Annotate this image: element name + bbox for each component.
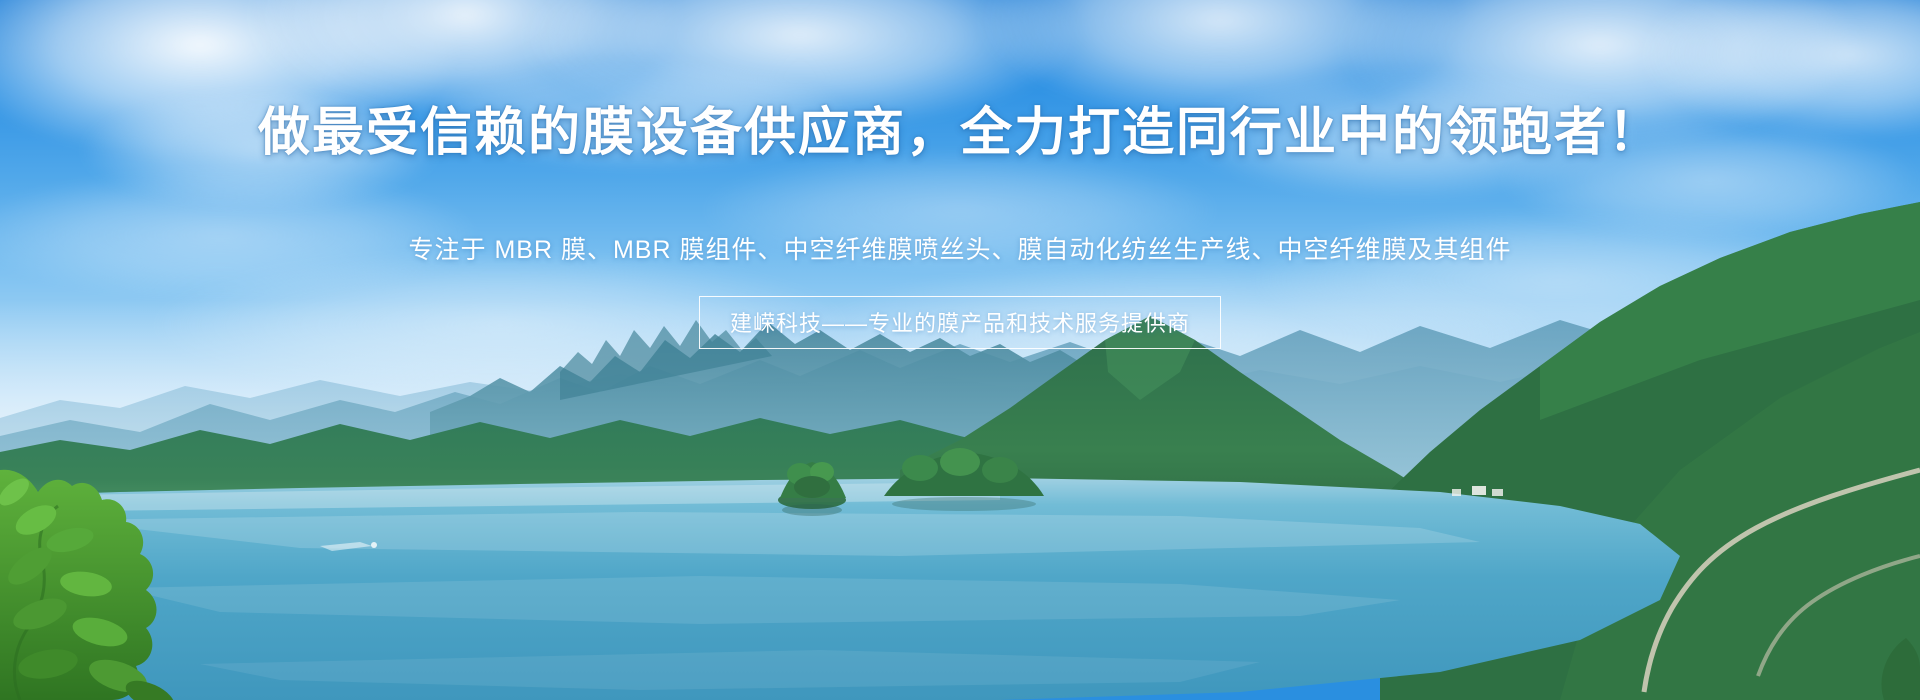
banner-headline: 做最受信赖的膜设备供应商，全力打造同行业中的领跑者！ (0, 105, 1920, 161)
banner-tagline: 建嵘科技——专业的膜产品和技术服务提供商 (699, 296, 1221, 349)
hero-banner: 做最受信赖的膜设备供应商，全力打造同行业中的领跑者！ 专注于 MBR 膜、MBR… (0, 0, 1920, 700)
banner-tagline-container: 建嵘科技——专业的膜产品和技术服务提供商 (0, 296, 1920, 349)
banner-text-overlay: 做最受信赖的膜设备供应商，全力打造同行业中的领跑者！ 专注于 MBR 膜、MBR… (0, 0, 1920, 700)
banner-subheadline: 专注于 MBR 膜、MBR 膜组件、中空纤维膜喷丝头、膜自动化纺丝生产线、中空纤… (0, 230, 1920, 266)
